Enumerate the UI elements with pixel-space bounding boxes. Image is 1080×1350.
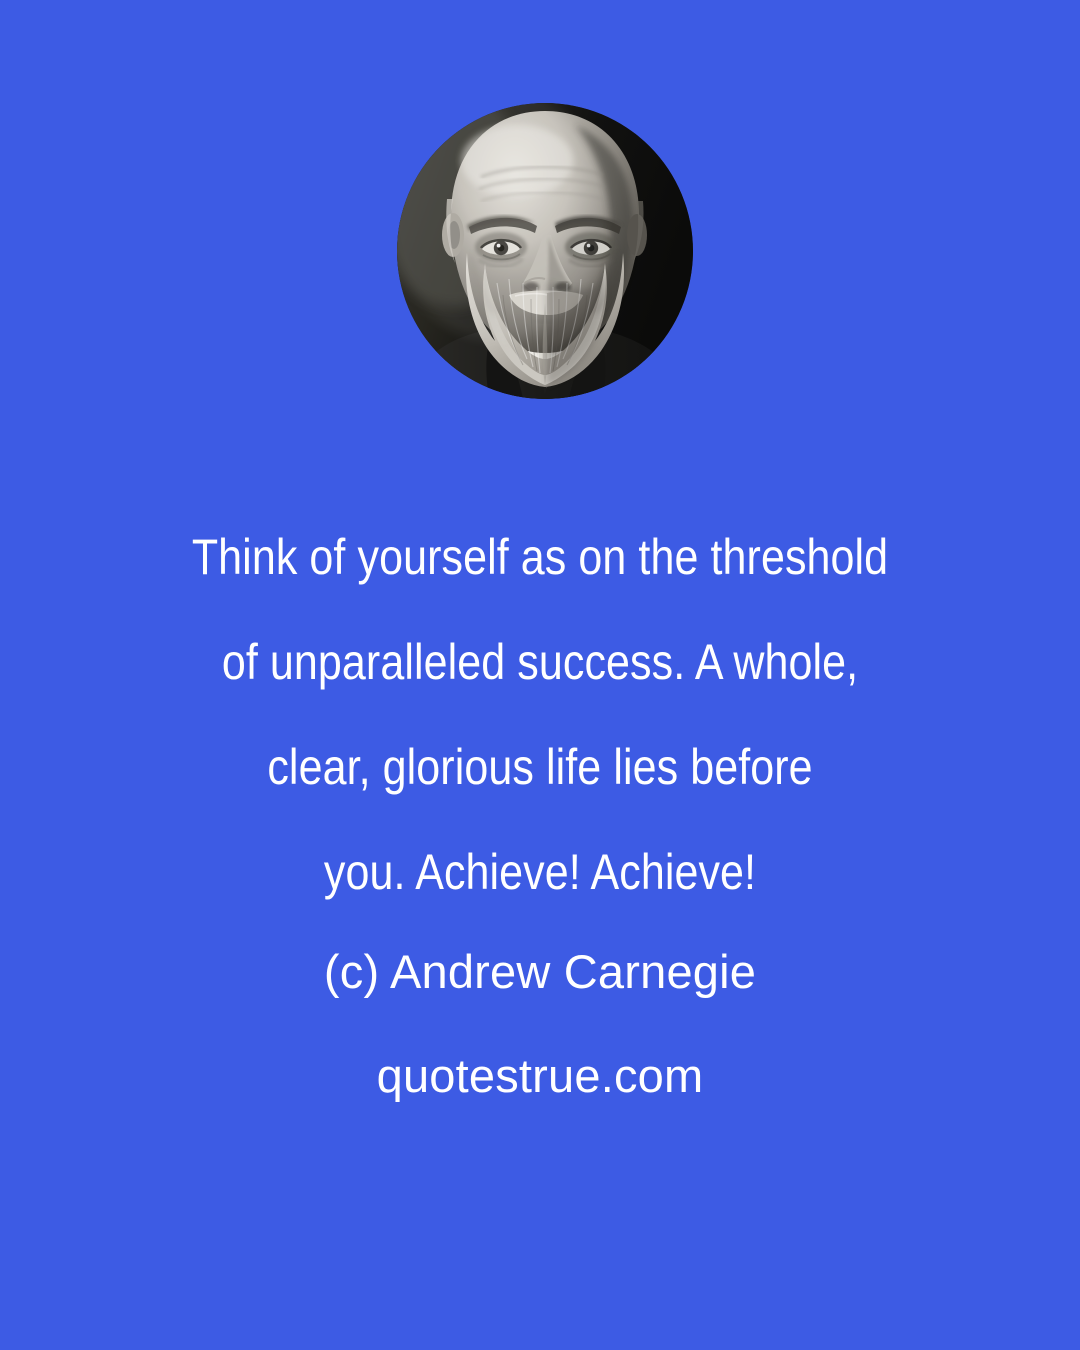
credit-block: (c) Andrew Carnegie quotestrue.com: [0, 920, 1080, 1128]
andrew-carnegie-portrait-icon: [397, 103, 693, 399]
quote-line-3: clear, glorious life lies before: [76, 715, 1005, 820]
quote-card: Think of yourself as on the threshold of…: [0, 0, 1080, 1350]
quote-author: (c) Andrew Carnegie: [0, 920, 1080, 1024]
author-portrait: [397, 103, 693, 399]
quote-line-4: you. Achieve! Achieve!: [76, 820, 1005, 925]
quote-line-1: Think of yourself as on the threshold: [76, 505, 1005, 610]
quote-line-2: of unparalleled success. A whole,: [76, 610, 1005, 715]
quote-text: Think of yourself as on the threshold of…: [0, 505, 1080, 925]
source-website: quotestrue.com: [0, 1024, 1080, 1128]
